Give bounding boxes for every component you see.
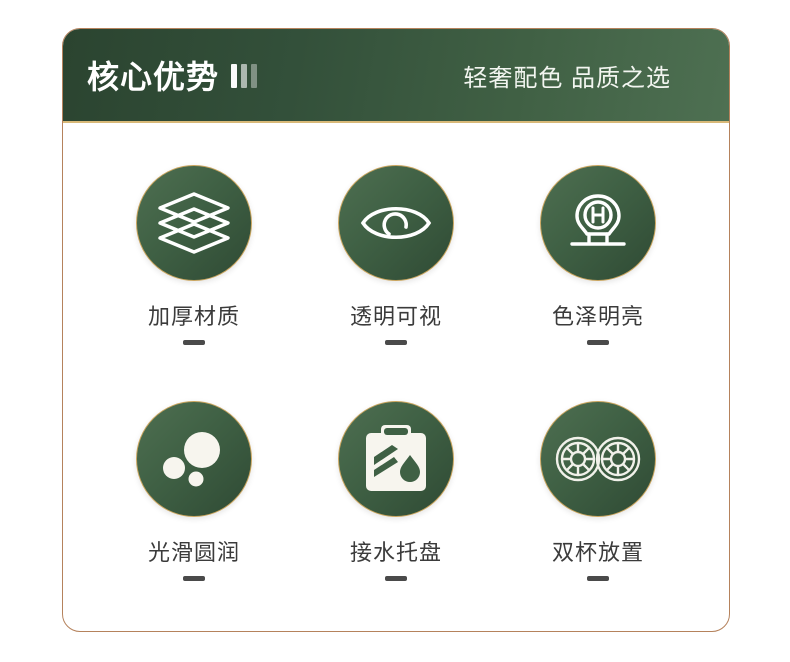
features-grid: 加厚材质 透明可视 [63, 123, 729, 611]
feature-item-water-tray[interactable]: 接水托盘 [306, 401, 486, 581]
card-header: 核心优势 轻奢配色 品质之选 [63, 29, 729, 123]
icon-badge [540, 401, 656, 517]
feature-item-bright-color[interactable]: 色泽明亮 [508, 165, 688, 345]
label-underline-dash [183, 340, 205, 345]
water-tray-icon [364, 425, 428, 493]
feature-item-transparent-visible[interactable]: 透明可视 [306, 165, 486, 345]
feature-label: 色泽明亮 [552, 299, 644, 331]
bubbles-icon [159, 426, 229, 492]
bars-icon [231, 62, 257, 88]
label-underline-dash [587, 340, 609, 345]
label-underline-dash [587, 576, 609, 581]
header-subtitle: 轻奢配色 品质之选 [463, 58, 671, 93]
icon-badge [338, 165, 454, 281]
lightbulb-h-icon [564, 190, 632, 256]
feature-highlights-page: 核心优势 轻奢配色 品质之选 [0, 0, 790, 662]
feature-label: 光滑圆润 [148, 535, 240, 567]
header-left-group: 核心优势 [87, 52, 257, 98]
feature-label: 透明可视 [350, 299, 442, 331]
core-advantages-card: 核心优势 轻奢配色 品质之选 [62, 28, 730, 632]
features-row-2: 光滑圆润 [93, 401, 699, 581]
feature-label: 接水托盘 [350, 535, 442, 567]
feature-item-double-cup[interactable]: 双杯放置 [508, 401, 688, 581]
label-underline-dash [385, 576, 407, 581]
feature-label: 双杯放置 [552, 535, 644, 567]
features-row-1: 加厚材质 透明可视 [93, 165, 699, 345]
icon-badge [338, 401, 454, 517]
icon-badge [136, 165, 252, 281]
layers-icon [155, 188, 233, 258]
double-cup-icon [555, 434, 641, 484]
feature-item-thick-material[interactable]: 加厚材质 [104, 165, 284, 345]
feature-label: 加厚材质 [148, 299, 240, 331]
label-underline-dash [385, 340, 407, 345]
feature-item-smooth-round[interactable]: 光滑圆润 [104, 401, 284, 581]
icon-badge [540, 165, 656, 281]
page-title: 核心优势 [87, 52, 219, 98]
icon-badge [136, 401, 252, 517]
eye-icon [358, 196, 434, 250]
label-underline-dash [183, 576, 205, 581]
